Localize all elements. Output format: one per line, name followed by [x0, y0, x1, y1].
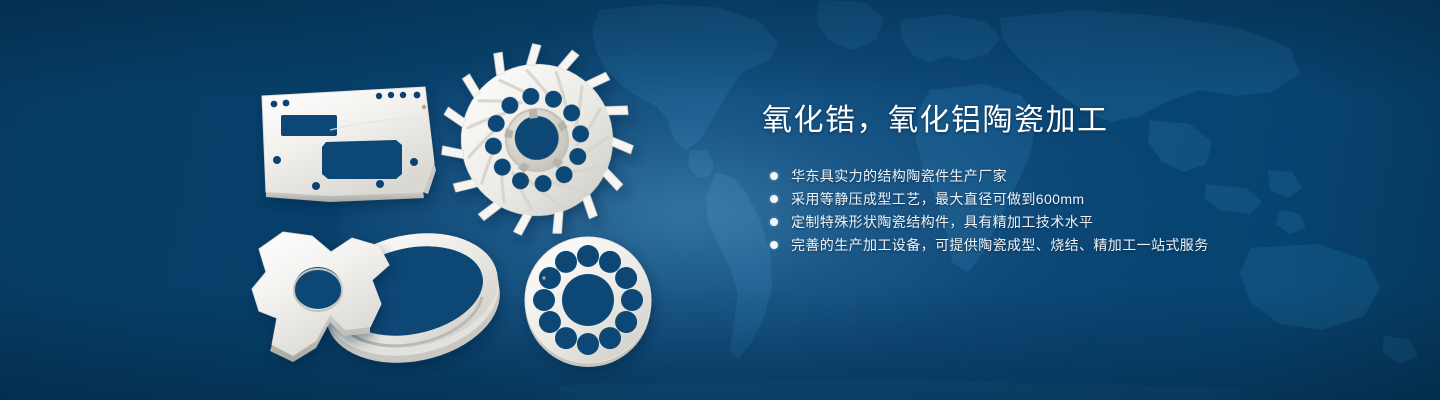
- bullet-dot-icon: [770, 172, 778, 180]
- list-item: 采用等静压成型工艺，最大直径可做到600mm: [762, 188, 1402, 211]
- machined-ceramic-plate: [262, 87, 436, 202]
- list-item: 完善的生产加工设备，可提供陶瓷成型、烧结、精加工一站式服务: [762, 234, 1402, 257]
- list-item: 华东具实力的结构陶瓷件生产厂家: [762, 165, 1402, 188]
- bullet-dot-icon: [770, 218, 778, 226]
- list-item: 定制特殊形状陶瓷结构件，具有精加工技术水平: [762, 211, 1402, 234]
- feature-list: 华东具实力的结构陶瓷件生产厂家 采用等静压成型工艺，最大直径可做到600mm 定…: [762, 165, 1402, 257]
- list-item-label: 完善的生产加工设备，可提供陶瓷成型、烧结、精加工一站式服务: [791, 234, 1209, 257]
- ceramic-impeller-rotor: [427, 31, 646, 250]
- perforated-ceramic-disc: [525, 237, 651, 367]
- ceramic-products-photo: [0, 0, 740, 400]
- page-title: 氧化锆，氧化铝陶瓷加工: [762, 104, 1402, 139]
- list-item-label: 采用等静压成型工艺，最大直径可做到600mm: [791, 188, 1084, 211]
- banner-copy: 氧化锆，氧化铝陶瓷加工 华东具实力的结构陶瓷件生产厂家 采用等静压成型工艺，最大…: [762, 104, 1402, 257]
- list-item-label: 华东具实力的结构陶瓷件生产厂家: [791, 165, 1007, 188]
- list-item-label: 定制特殊形状陶瓷结构件，具有精加工技术水平: [791, 211, 1093, 234]
- bullet-dot-icon: [770, 195, 778, 203]
- ceramic-processing-banner: 氧化锆，氧化铝陶瓷加工 华东具实力的结构陶瓷件生产厂家 采用等静压成型工艺，最大…: [0, 0, 1440, 400]
- bullet-dot-icon: [770, 241, 778, 249]
